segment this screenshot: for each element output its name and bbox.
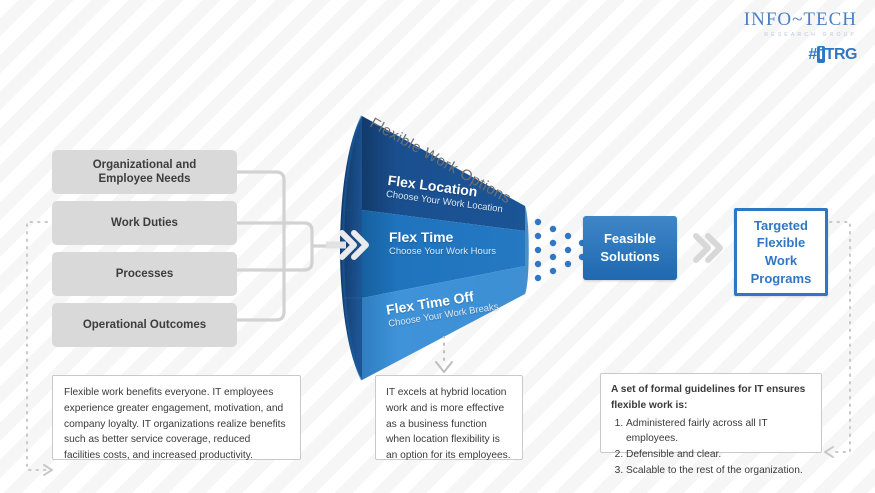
brand-name: INFO~TECH (744, 10, 857, 29)
input-box-label-line1: Work Duties (111, 216, 178, 230)
left-dotted-path (27, 222, 47, 470)
right-dotted-arrowhead (825, 447, 833, 457)
input-box-label-line1: Operational Outcomes (83, 318, 206, 332)
feasible-solutions-box[interactable]: Feasible Solutions (583, 216, 677, 280)
bracket-outer (236, 172, 284, 320)
input-box-operational-outcomes[interactable]: Operational Outcomes (52, 303, 237, 347)
feasible-solutions-line2: Solutions (600, 248, 659, 266)
note-right-item: Scalable to the rest of the organization… (626, 463, 811, 479)
slide-canvas: Organizational and Employee Needs Work D… (0, 0, 875, 493)
chevron-arrow-to-programs (690, 232, 728, 264)
note-right-guidelines: A set of formal guidelines for IT ensure… (600, 373, 822, 453)
targeted-line4: Programs (751, 270, 812, 288)
brand-logo: INFO~TECH RESEARCH GROUP #iTRG (744, 10, 857, 64)
input-box-label-line2: Employee Needs (93, 172, 197, 186)
note-middle-text: IT excels at hybrid location work and is… (386, 385, 512, 464)
itrg-hash: # (808, 46, 816, 63)
targeted-line1: Targeted (751, 217, 812, 235)
note-left-text: Flexible work benefits everyone. IT empl… (64, 385, 289, 464)
input-box-label-line1: Processes (116, 267, 174, 281)
funnel-neck (525, 206, 529, 294)
dotted-down-arrow (432, 336, 456, 378)
chevron-arrow-into-funnel (324, 228, 370, 262)
note-right-item: Administered fairly across all IT employ… (626, 416, 811, 448)
targeted-flexible-work-programs-box[interactable]: Targeted Flexible Work Programs (734, 208, 828, 296)
brand-tagline: RESEARCH GROUP (744, 32, 857, 38)
targeted-line2: Flexible (751, 234, 812, 252)
note-right-item: Defensible and clear. (626, 447, 811, 463)
bracket-inner (236, 223, 312, 270)
band-subtitle: Choose Your Work Hours (389, 246, 496, 257)
targeted-line3: Work (751, 252, 812, 270)
note-middle-hybrid: IT excels at hybrid location work and is… (375, 375, 523, 460)
feasible-solutions-line1: Feasible (600, 230, 659, 248)
input-box-processes[interactable]: Processes (52, 252, 237, 296)
itrg-i: i (817, 46, 825, 63)
band-title: Flex Time (389, 229, 496, 245)
input-box-label-line1: Organizational and (93, 158, 197, 172)
note-right-lead: A set of formal guidelines for IT ensure… (611, 382, 811, 414)
input-box-work-duties[interactable]: Work Duties (52, 201, 237, 245)
note-left-benefits: Flexible work benefits everyone. IT empl… (52, 375, 301, 460)
note-right-list: Administered fairly across all IT employ… (611, 416, 811, 479)
itrg-mark: #iTRG (744, 46, 857, 64)
right-dotted-path (830, 222, 850, 452)
input-box-organizational-employee-needs[interactable]: Organizational and Employee Needs (52, 150, 237, 194)
itrg-trg: TRG (825, 46, 857, 63)
funnel-label-flex-time: Flex Time Choose Your Work Hours (389, 229, 496, 257)
